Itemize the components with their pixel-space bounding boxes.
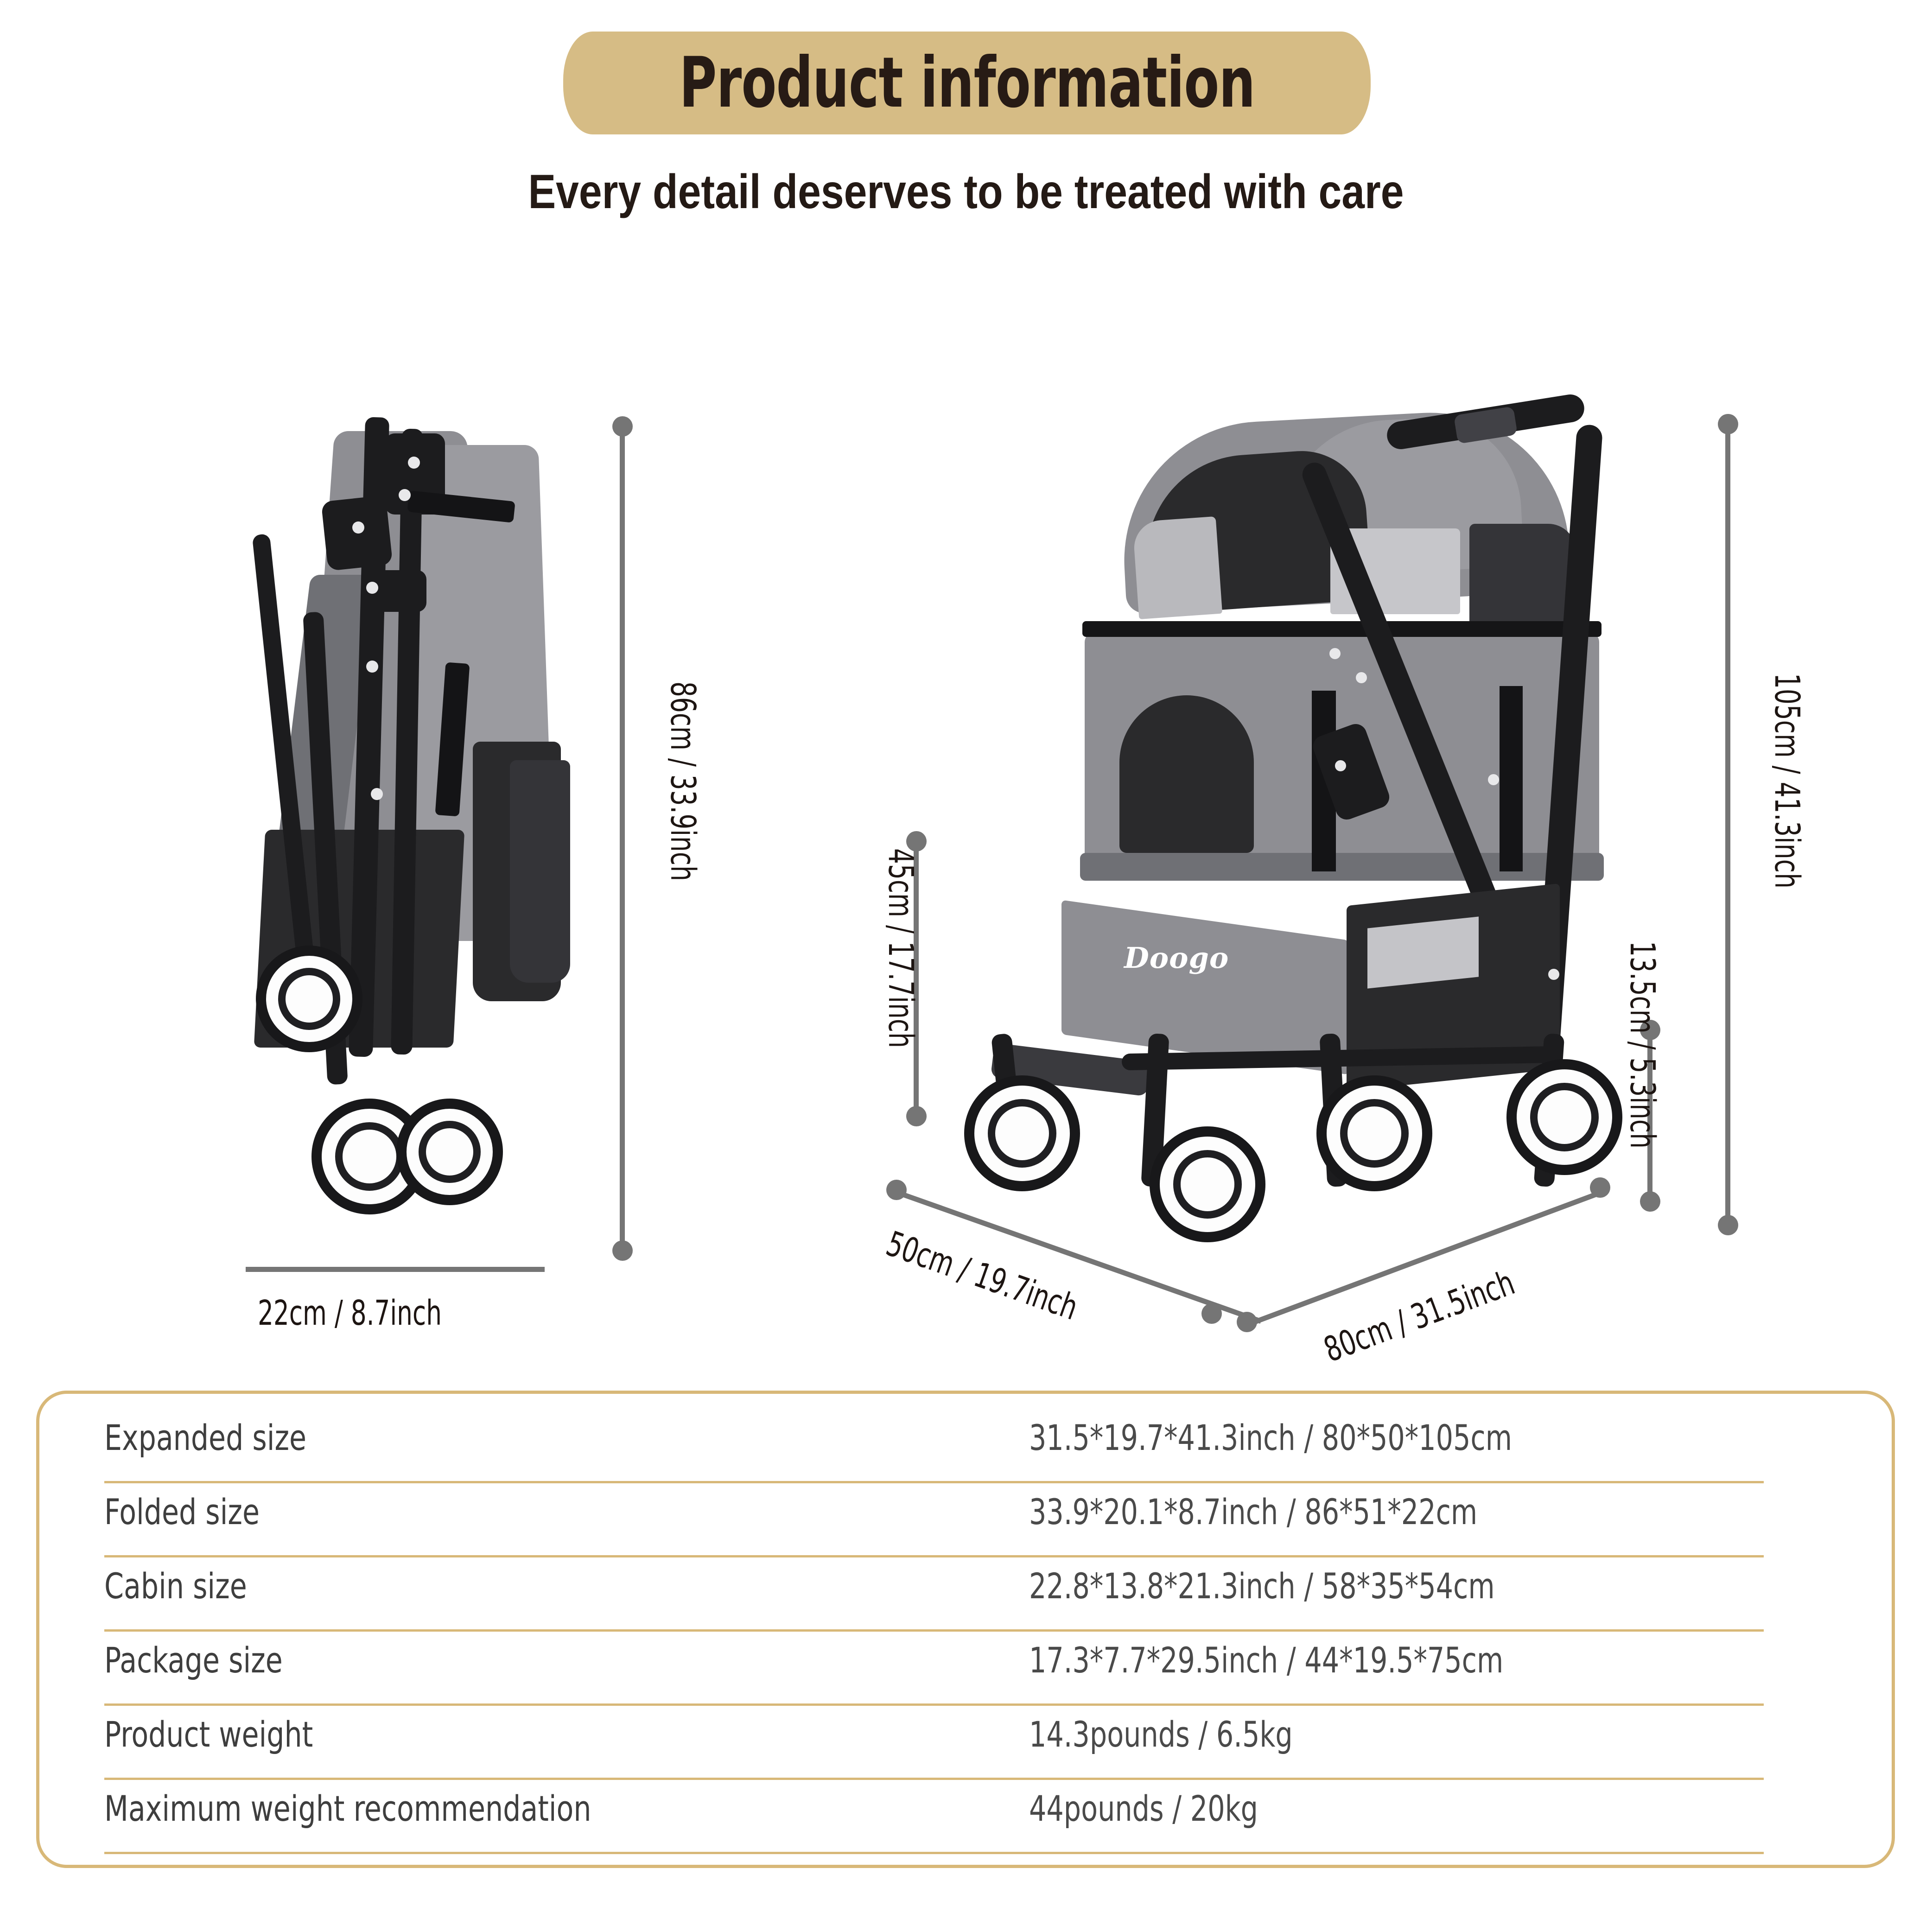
dim-dot-bottom: [1718, 1215, 1738, 1235]
expanded-front-door-mesh: [1119, 695, 1254, 853]
row-divider: [104, 1555, 1764, 1557]
dim-dot-bottom: [1640, 1191, 1660, 1212]
dim-line: [246, 1267, 545, 1272]
spec-label: Folded size: [104, 1491, 260, 1532]
spec-label: Maximum weight recommendation: [104, 1788, 591, 1829]
expanded-wheel-front-right: [1150, 1126, 1265, 1242]
dim-dot-right: [0, 24, 16, 48]
dim-dot-bottom: [612, 1240, 633, 1261]
folded-rivet-4: [366, 582, 378, 594]
ground-clearance-label: 13.5cm / 5.3inch: [1622, 941, 1662, 1149]
folded-wheel-lower-right: [396, 1099, 503, 1205]
specification-table: Expanded size 31.5*19.7*41.3inch / 80*50…: [36, 1391, 1895, 1868]
page-subtitle: Every detail deserves to be treated with…: [135, 165, 1797, 220]
expanded-wheel-rear-left: [1316, 1075, 1432, 1191]
table-row: Package size 17.3*7.7*29.5inch / 44*19.5…: [104, 1640, 1764, 1700]
folded-rivet-1: [408, 457, 420, 469]
spec-value: 22.8*13.8*21.3inch / 58*35*54cm: [1029, 1565, 1495, 1607]
expanded-depth-label: 50cm / 19.7inch: [881, 1224, 1083, 1328]
dim-line: [1725, 423, 1730, 1225]
folded-mesh-pocket: [510, 760, 570, 983]
expanded-wheel-rear-right: [1506, 1059, 1622, 1175]
row-divider: [104, 1852, 1764, 1854]
dim-dot-end: [1201, 1303, 1222, 1324]
table-row: Folded size 33.9*20.1*8.7inch / 86*51*22…: [104, 1491, 1764, 1551]
dim-dot-left: [0, 0, 16, 24]
page-title: Product information: [679, 43, 1255, 123]
cabin-floor-height-label: 45cm / 17.7inch: [881, 848, 921, 1048]
expanded-rivet-2: [1356, 672, 1367, 683]
row-divider: [104, 1703, 1764, 1706]
expanded-basket-panel: [1061, 900, 1349, 1074]
expanded-rivet-4: [1488, 774, 1499, 785]
folded-height-label: 86cm / 33.9inch: [663, 681, 703, 881]
row-divider: [104, 1481, 1764, 1483]
dim-dot-bottom: [906, 1106, 927, 1126]
expanded-rear-mesh: [1469, 524, 1576, 635]
spec-label: Cabin size: [104, 1565, 247, 1607]
expanded-rivet-1: [1329, 648, 1341, 659]
dim-dot-end: [1590, 1177, 1610, 1198]
expanded-cabin-base-trim: [1080, 853, 1604, 881]
expanded-length-label: 80cm / 31.5inch: [1319, 1263, 1520, 1370]
expanded-cabin-zipper: [1082, 621, 1602, 637]
spec-value: 14.3pounds / 6.5kg: [1029, 1714, 1293, 1755]
row-divider: [104, 1629, 1764, 1632]
table-row: Product weight 14.3pounds / 6.5kg: [104, 1714, 1764, 1774]
table-row: Expanded size 31.5*19.7*41.3inch / 80*50…: [104, 1417, 1764, 1477]
table-row: Cabin size 22.8*13.8*21.3inch / 58*35*54…: [104, 1565, 1764, 1626]
brand-logo: Doogo: [1124, 941, 1229, 975]
row-divider: [104, 1778, 1764, 1780]
expanded-cabin-strap-right: [1500, 686, 1523, 871]
spec-value: 31.5*19.7*41.3inch / 80*50*105cm: [1029, 1417, 1512, 1458]
expanded-rivet-5: [1548, 969, 1559, 980]
dim-line: [620, 426, 625, 1251]
spec-label: Product weight: [104, 1714, 313, 1755]
spec-value: 33.9*20.1*8.7inch / 86*51*22cm: [1029, 1491, 1477, 1532]
spec-value: 17.3*7.7*29.5inch / 44*19.5*75cm: [1029, 1640, 1503, 1681]
page-title-badge: Product information: [563, 32, 1371, 134]
folded-rivet-5: [366, 661, 378, 673]
folded-rivet-2: [399, 489, 411, 501]
folded-width-label: 22cm / 8.7inch: [258, 1293, 442, 1333]
folded-rivet-3: [352, 521, 364, 534]
expanded-basket-mesh-stripe: [1367, 916, 1479, 988]
table-row: Maximum weight recommendation 44pounds /…: [104, 1788, 1764, 1848]
product-information-page: Product information Every detail deserve…: [0, 0, 1932, 1932]
expanded-height-label: 105cm / 41.3inch: [1767, 673, 1807, 889]
spec-label: Expanded size: [104, 1417, 306, 1458]
expanded-rivet-3: [1335, 760, 1346, 771]
folded-rivet-6: [371, 788, 383, 800]
expanded-canopy-mesh-light: [1132, 516, 1222, 619]
expanded-wheel-front-left: [964, 1075, 1080, 1191]
spec-value: 44pounds / 20kg: [1029, 1788, 1258, 1829]
folded-wheel-upper: [256, 946, 362, 1052]
spec-label: Package size: [104, 1640, 283, 1681]
